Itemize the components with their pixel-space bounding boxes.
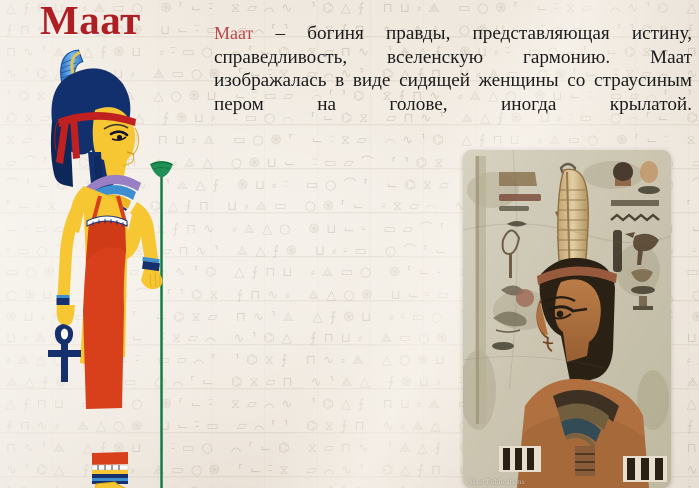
left-bracelet	[57, 295, 70, 305]
maat-fresco-photo: Maat Publications	[463, 150, 671, 488]
lower-legs	[92, 452, 128, 465]
slide-canvas: △⨍⊓⊔ ⸗⟁▭○ ֍⸢⌙⸚ ⧖▱⌒∿ ⸣⌬△⨍ ⊓⊔⸗⟁ ▭○֍⸢ ⌙⸚⧖▱ …	[0, 0, 699, 488]
papyrus-staff-icon	[150, 161, 173, 488]
maat-goddess-illustration	[0, 36, 210, 488]
body-lead-word: Маат	[214, 23, 253, 43]
ankh-icon	[48, 324, 81, 382]
body-paragraph: Маат – богиня правды, представляющая ист…	[214, 22, 692, 140]
left-hand	[57, 305, 75, 326]
body-rest-text: – богиня правды, представляющая истину, …	[214, 23, 692, 115]
anklet-icons	[92, 465, 128, 484]
right-bracelet	[142, 257, 160, 271]
